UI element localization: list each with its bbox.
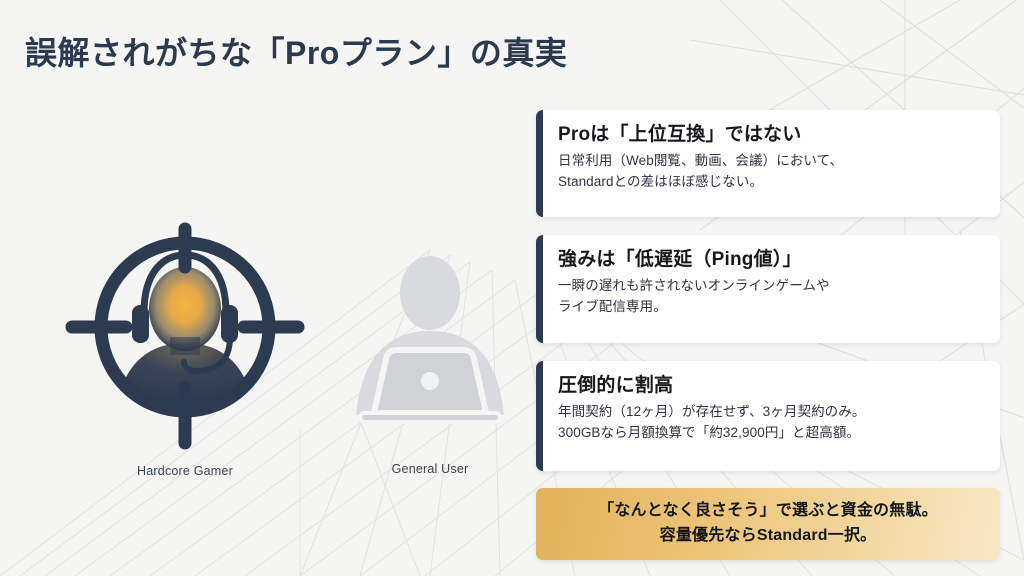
info-card-body: 日常利用（Web閲覧、動画、会議）において、 Standardとの差はほぼ感じな…	[558, 151, 982, 193]
info-card-title: 強みは「低遅延（Ping値）」	[558, 248, 982, 272]
persona-illustration: Hardcore Gamer General User	[20, 215, 520, 505]
persona-label-gamer: Hardcore Gamer	[40, 464, 330, 478]
conclusion-banner: 「なんとなく良さそう」で選ぶと資金の無駄。 容量優先ならStandard一択。	[536, 488, 1000, 560]
info-card: 強みは「低遅延（Ping値）」 一瞬の遅れも許されないオンラインゲームや ライブ…	[536, 235, 1000, 343]
info-card: 圧倒的に割高 年間契約（12ヶ月）が存在せず、3ヶ月契約のみ。 300GBなら月…	[536, 361, 1000, 471]
info-card-body-line: 一瞬の遅れも許されないオンラインゲームや	[558, 276, 982, 297]
info-card-title: Proは「上位互換」ではない	[558, 123, 982, 147]
info-card-body: 年間契約（12ヶ月）が存在せず、3ヶ月契約のみ。 300GBなら月額換算で「約3…	[558, 402, 982, 444]
info-card-title: 圧倒的に割高	[558, 374, 982, 398]
conclusion-line: 「なんとなく良さそう」で選ぶと資金の無駄。	[598, 499, 938, 524]
info-card-body-line: ライブ配信専用。	[558, 297, 982, 318]
info-card-body-line: 年間契約（12ヶ月）が存在せず、3ヶ月契約のみ。	[558, 402, 982, 423]
page-title: 誤解されがちな「Proプラン」の真実	[25, 28, 567, 74]
persona-general-user: General User	[320, 253, 540, 476]
crosshair-gamer-headset-icon	[60, 215, 310, 465]
persona-label-general-user: General User	[320, 462, 540, 476]
persona-hardcore-gamer: Hardcore Gamer	[40, 215, 330, 478]
info-card-body-line: 日常利用（Web閲覧、動画、会議）において、	[558, 151, 982, 172]
info-card: Proは「上位互換」ではない 日常利用（Web閲覧、動画、会議）において、 St…	[536, 110, 1000, 217]
info-card-body-line: Standardとの差はほぼ感じない。	[558, 172, 982, 193]
conclusion-line: 容量優先ならStandard一択。	[660, 524, 877, 549]
info-card-body-line: 300GBなら月額換算で「約32,900円」と超高額。	[558, 423, 982, 444]
person-laptop-icon	[330, 253, 530, 453]
info-card-body: 一瞬の遅れも許されないオンラインゲームや ライブ配信専用。	[558, 276, 982, 318]
